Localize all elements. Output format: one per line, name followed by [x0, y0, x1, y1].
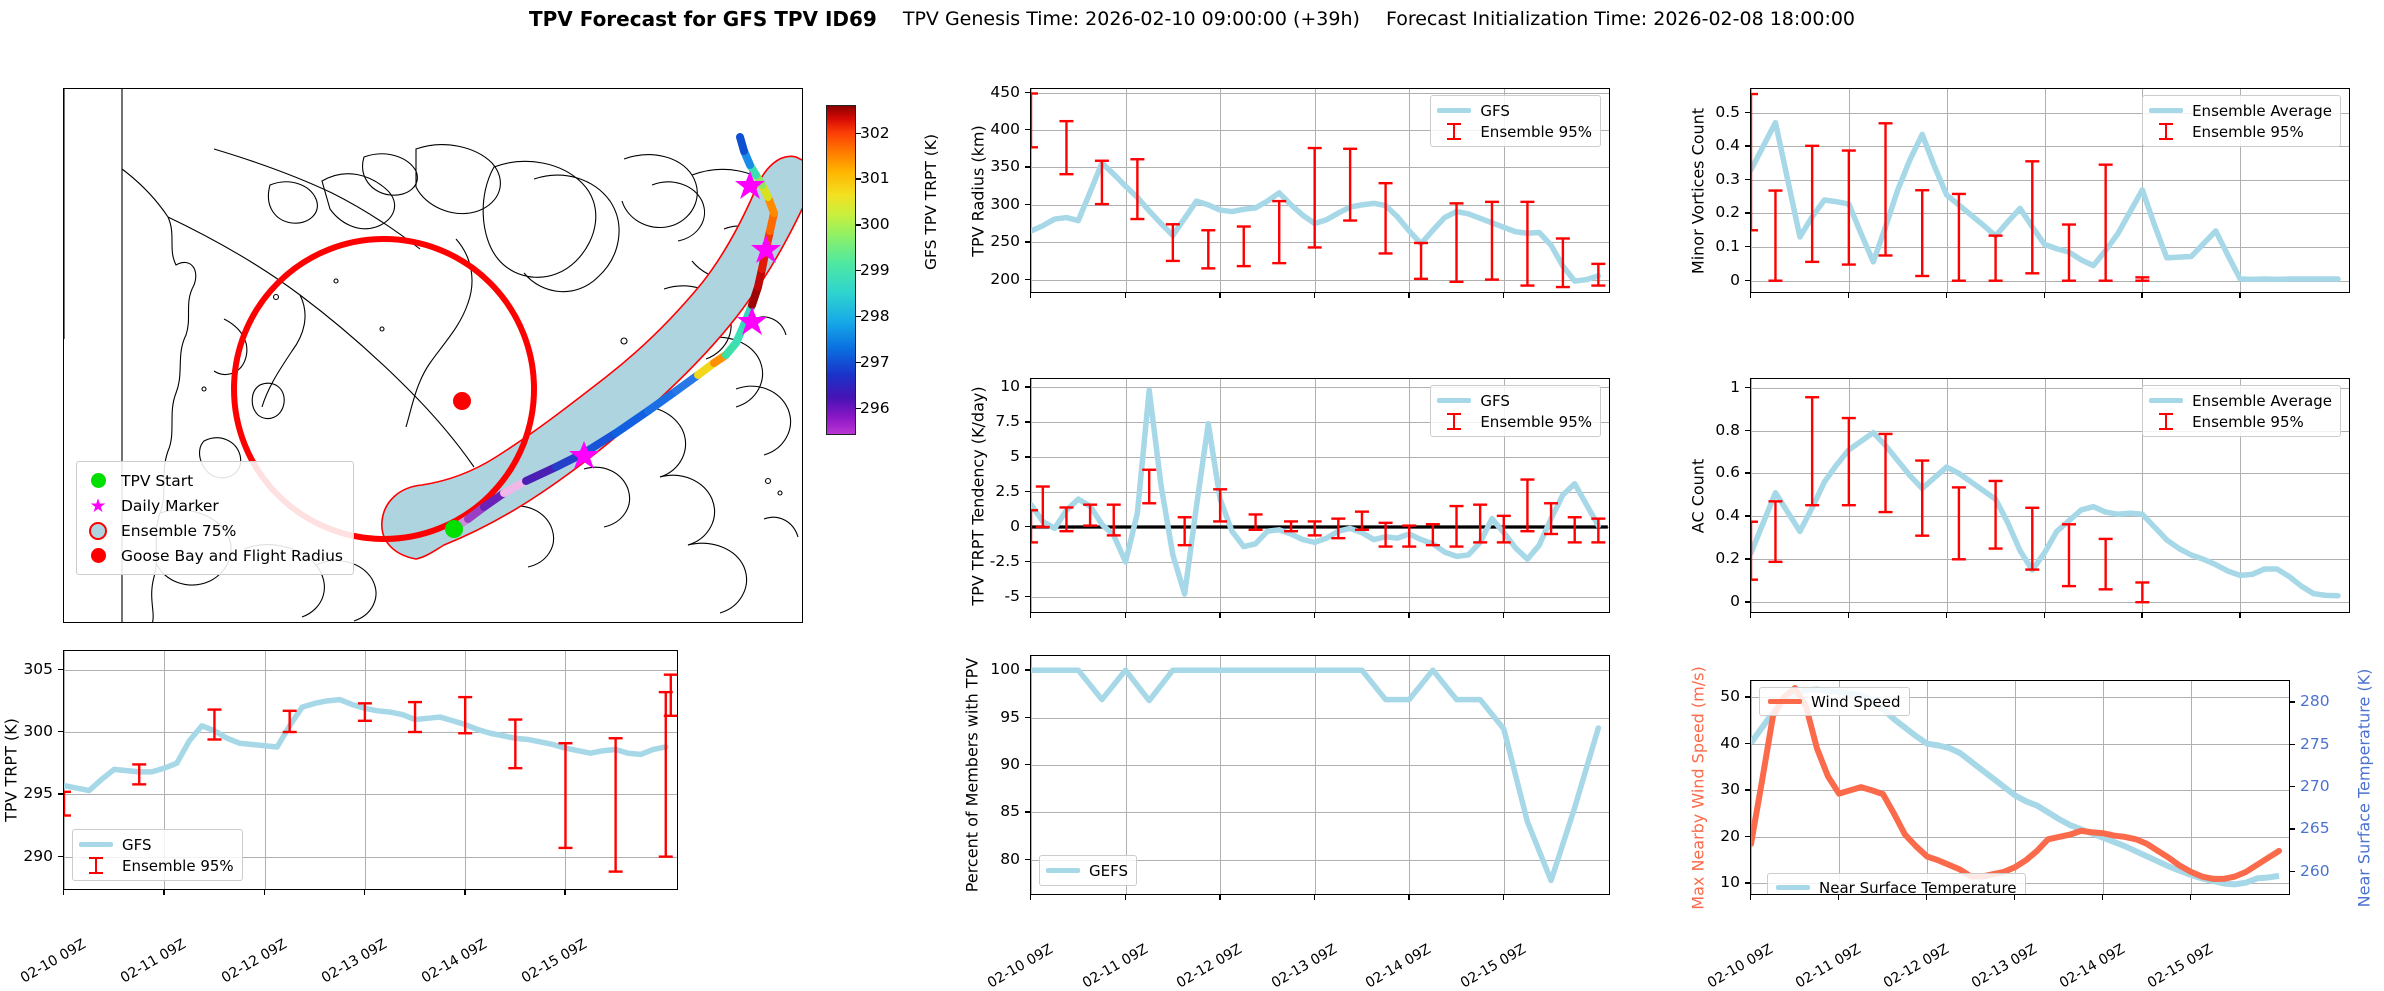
legend-item-ensemble-75: Ensemble 75%: [87, 518, 343, 543]
y-tick-mark: [1025, 166, 1030, 167]
legend-entry: Ensemble 95%: [2149, 411, 2332, 432]
y-tick-label: 20: [1720, 827, 1740, 845]
y-tick-label: 200: [990, 270, 1020, 288]
x-tick-mark: [1750, 895, 1751, 900]
plot-area-tpv-radius[interactable]: GFSEnsemble 95%: [1030, 88, 1610, 293]
error-bar: [1805, 146, 1819, 262]
y-tick-label: 0.4: [1715, 506, 1740, 524]
y-tick-mark: [58, 669, 63, 670]
x-tick-mark: [1750, 293, 1751, 298]
y-tick-mark: [1025, 92, 1030, 93]
y-tick-mark: [1745, 430, 1750, 431]
x-tick-label: 02-12 09Z: [1881, 941, 1952, 991]
legend-entry: Ensemble 95%: [1437, 411, 1592, 432]
legend-entry: Ensemble Average: [2149, 100, 2332, 121]
error-bar: [1520, 480, 1534, 532]
colorbar-tick-label: 298: [860, 307, 890, 325]
error-bar: [1989, 236, 2003, 281]
y-tick-label: 30: [1720, 780, 1740, 798]
y-tick-label: 1: [1730, 378, 1740, 396]
error-bar: [1768, 191, 1782, 281]
y-tick-label: 100: [990, 660, 1020, 678]
legend-entry: GFS: [79, 834, 234, 855]
plot-area-ac-count[interactable]: Ensemble AverageEnsemble 95%: [1750, 378, 2350, 613]
plot-area-tpv-trpt-tendency[interactable]: GFSEnsemble 95%: [1030, 378, 1610, 613]
x-tick-label: 02-14 09Z: [1363, 941, 1434, 991]
y-tick-mark: [1025, 279, 1030, 280]
legend-errorbar-icon: [79, 857, 113, 874]
red-circle-icon: [87, 548, 109, 563]
x-tick-label: 02-15 09Z: [519, 936, 590, 986]
x-tick-label: 02-13 09Z: [1969, 941, 2040, 991]
x-tick-label: 02-10 09Z: [1705, 941, 1776, 991]
temperature-line: [1751, 689, 2279, 884]
error-bar: [2099, 539, 2113, 589]
x-tick-mark: [1314, 613, 1315, 618]
x-tick-mark: [1125, 293, 1126, 298]
error-bar: [1485, 202, 1499, 280]
y-tick-mark: [1745, 472, 1750, 473]
error-bar: [1879, 434, 1893, 512]
y-tick-label: 0.6: [1715, 463, 1740, 481]
x-tick-mark: [1848, 293, 1849, 298]
legend-label: Ensemble 75%: [121, 522, 236, 540]
x-tick-mark: [1408, 613, 1409, 618]
legend-label: Wind Speed: [1811, 693, 1901, 711]
x-tick-mark: [1946, 613, 1947, 618]
y-axis-label-right: Near Surface Temperature (K): [2355, 668, 2374, 907]
y-tick-label-right: 275: [2300, 735, 2330, 753]
y-tick-mark: [1745, 515, 1750, 516]
tpv-start-marker: [445, 520, 463, 538]
y-tick-mark: [1745, 836, 1750, 837]
legend-percent-members: GEFS: [1039, 855, 1137, 886]
y-tick-mark: [1745, 789, 1750, 790]
x-tick-mark: [1926, 895, 1927, 900]
error-bar: [1379, 183, 1393, 253]
error-bar: [1915, 190, 1929, 276]
x-tick-mark: [2014, 895, 2015, 900]
y-tick-mark-right: [2290, 828, 2295, 829]
x-tick-mark: [2239, 613, 2240, 618]
x-tick-mark: [1219, 895, 1220, 900]
colorbar: 296297298299300301302 GFS TPV TRPT (K): [826, 105, 856, 435]
error-bar: [508, 720, 522, 769]
x-tick-mark: [2239, 293, 2240, 298]
legend-errorbar-icon: [1437, 413, 1471, 430]
x-tick-mark: [1314, 293, 1315, 298]
legend-label: Ensemble 95%: [1480, 123, 1592, 141]
y-tick-mark: [1745, 112, 1750, 113]
colorbar-label: GFS TPV TRPT (K): [922, 134, 940, 270]
colorbar-gradient: [826, 105, 856, 435]
y-tick-label: 0.5: [1715, 103, 1740, 121]
error-bar: [2135, 277, 2149, 280]
x-tick-mark: [1030, 293, 1031, 298]
y-axis-label: AC Count: [1689, 458, 1708, 532]
y-tick-mark: [1025, 717, 1030, 718]
error-bar: [1520, 202, 1534, 286]
goose-bay-marker: [453, 392, 471, 410]
error-bar: [2099, 165, 2113, 281]
y-axis-label: TPV TRPT (K): [2, 718, 21, 822]
y-tick-label: 10: [1000, 377, 1020, 395]
legend-label: Goose Bay and Flight Radius: [121, 547, 343, 565]
y-tick-mark: [58, 793, 63, 794]
colorbar-tick-label: 302: [860, 124, 890, 142]
y-tick-label: 0.1: [1715, 237, 1740, 255]
error-bar: [1842, 418, 1856, 505]
legend-line-icon: [2149, 398, 2183, 403]
y-tick-mark: [1745, 387, 1750, 388]
x-tick-mark: [2102, 895, 2103, 900]
x-tick-label: 02-11 09Z: [118, 936, 189, 986]
legend-label: GFS: [122, 836, 152, 854]
y-tick-label-right: 270: [2300, 777, 2330, 795]
x-tick-mark: [163, 890, 164, 895]
x-tick-mark: [1030, 895, 1031, 900]
legend-line-icon: [1437, 108, 1471, 113]
x-tick-mark: [2190, 895, 2191, 900]
y-tick-label: 0.2: [1715, 203, 1740, 221]
y-tick-mark: [1745, 558, 1750, 559]
x-tick-mark: [1219, 293, 1220, 298]
legend-label: Ensemble Average: [2192, 392, 2332, 410]
x-tick-label: 02-14 09Z: [2057, 941, 2128, 991]
legend-label: GFS: [1480, 392, 1510, 410]
error-bar: [609, 738, 623, 871]
x-tick-mark: [564, 890, 565, 895]
y-tick-label: 90: [1000, 755, 1020, 773]
error-bar: [2135, 582, 2149, 602]
y-tick-mark: [1025, 596, 1030, 597]
y-tick-mark: [1745, 145, 1750, 146]
y-tick-mark: [1745, 743, 1750, 744]
x-tick-label: 02-12 09Z: [1174, 941, 1245, 991]
y-axis-label: TPV TRPT Tendency (K/day): [969, 386, 988, 605]
ensemble-circle-icon: [87, 522, 109, 540]
y-tick-mark: [1025, 811, 1030, 812]
legend-line-icon: [1046, 868, 1080, 873]
legend-label: GFS: [1480, 102, 1510, 120]
legend-entry: GEFS: [1046, 860, 1128, 881]
y-tick-mark: [1025, 456, 1030, 457]
legend-entry: Ensemble Average: [2149, 390, 2332, 411]
legend-label: Ensemble 95%: [1480, 413, 1592, 431]
legend-item-tpv-start: TPV Start: [87, 468, 343, 493]
y-tick-mark: [1025, 859, 1030, 860]
x-tick-mark: [464, 890, 465, 895]
y-tick-label: 305: [23, 660, 53, 678]
x-tick-mark: [1408, 293, 1409, 298]
y-tick-mark-right: [2290, 701, 2295, 702]
error-bar: [1036, 487, 1050, 527]
y-tick-mark: [1025, 129, 1030, 130]
x-tick-label: 02-15 09Z: [2145, 941, 2216, 991]
error-bar: [1915, 461, 1929, 536]
x-tick-mark: [1314, 895, 1315, 900]
y-tick-label: 10: [1720, 873, 1740, 891]
legend-label: Near Surface Temperature: [1819, 879, 2017, 896]
tpv-track-map[interactable]: TPV Start ★ Daily Marker Ensemble 75% Go…: [63, 88, 803, 623]
legend-label: Ensemble 95%: [122, 857, 234, 875]
ensemble-envelope: [382, 156, 803, 559]
x-tick-mark: [1838, 895, 1839, 900]
y-tick-label: 400: [990, 120, 1020, 138]
error-bar: [1952, 487, 1966, 559]
legend-wind-temp: Near Surface TemperatureWind Speed: [1759, 687, 1775, 691]
y-tick-mark: [1025, 204, 1030, 205]
data-line-ac-count: [1751, 433, 2338, 596]
genesis-time-label: TPV Genesis Time: 2026-02-10 09:00:00 (+…: [903, 8, 1360, 30]
y-tick-mark: [1025, 669, 1030, 670]
x-tick-label: 02-11 09Z: [1793, 941, 1864, 991]
legend-entry: Ensemble 95%: [1437, 121, 1592, 142]
plot-area-tpv-trpt[interactable]: GFSEnsemble 95%: [63, 650, 678, 890]
y-tick-mark: [1745, 882, 1750, 883]
y-tick-mark: [1745, 179, 1750, 180]
y-tick-label: 7.5: [995, 412, 1020, 430]
y-tick-label: -2.5: [990, 552, 1020, 570]
y-tick-mark: [1025, 764, 1030, 765]
legend-line-icon: [1776, 885, 1810, 890]
y-tick-mark-right: [2290, 871, 2295, 872]
x-tick-mark: [1503, 895, 1504, 900]
y-tick-label: 80: [1000, 850, 1020, 868]
legend-line-icon: [2149, 108, 2183, 113]
x-tick-mark: [1503, 293, 1504, 298]
x-tick-label: 02-14 09Z: [419, 936, 490, 986]
plot-area-minor-vortices-count[interactable]: Ensemble AverageEnsemble 95%: [1750, 88, 2350, 293]
legend-entry: GFS: [1437, 100, 1592, 121]
legend-entry: Near Surface Temperature: [1767, 873, 2026, 895]
colorbar-tick-label: 300: [860, 215, 890, 233]
error-bar: [1989, 481, 2003, 549]
x-tick-label: 02-10 09Z: [985, 941, 1056, 991]
legend-entry: Wind Speed: [1768, 691, 1901, 712]
x-tick-mark: [1125, 613, 1126, 618]
x-tick-mark: [264, 890, 265, 895]
legend-item-goose-bay: Goose Bay and Flight Radius: [87, 543, 343, 568]
y-tick-label: 0: [1010, 517, 1020, 535]
y-tick-mark-right: [2290, 786, 2295, 787]
y-tick-label: 300: [23, 722, 53, 740]
error-bar: [2062, 524, 2076, 586]
y-tick-mark: [1025, 491, 1030, 492]
legend-minor-vortices-count: Ensemble AverageEnsemble 95%: [2142, 95, 2341, 147]
y-axis-label: Percent of Members with TPV: [963, 658, 982, 892]
legend-label: GEFS: [1089, 862, 1128, 880]
error-bar: [1237, 227, 1251, 267]
y-tick-label: 0.3: [1715, 170, 1740, 188]
error-bar: [1059, 121, 1073, 174]
y-tick-label: 450: [990, 83, 1020, 101]
y-tick-label: 0.2: [1715, 549, 1740, 567]
y-tick-mark: [1745, 246, 1750, 247]
y-tick-label: 290: [23, 847, 53, 865]
init-time-label: Forecast Initialization Time: 2026-02-08…: [1386, 8, 1855, 30]
x-tick-mark: [2044, 613, 2045, 618]
data-line-percent-members: [1031, 670, 1598, 880]
legend-errorbar-icon: [2149, 123, 2183, 140]
x-tick-mark: [63, 890, 64, 895]
x-tick-label: 02-15 09Z: [1458, 941, 1529, 991]
error-bar: [1142, 470, 1156, 504]
x-tick-mark: [1125, 895, 1126, 900]
error-bar: [1568, 517, 1582, 542]
x-tick-label: 02-11 09Z: [1079, 941, 1150, 991]
colorbar-tick-label: 301: [860, 169, 890, 187]
y-tick-label: 300: [990, 195, 1020, 213]
x-tick-mark: [1408, 895, 1409, 900]
legend-errorbar-icon: [1437, 123, 1471, 140]
legend-label: Daily Marker: [121, 497, 219, 515]
plot-area-wind-temp[interactable]: Near Surface TemperatureWind Speed: [1750, 680, 2290, 895]
legend-line-icon: [1768, 699, 1802, 704]
y-tick-label-right: 265: [2300, 819, 2330, 837]
y-axis-label: Max Nearby Wind Speed (m/s): [1689, 666, 1708, 909]
x-tick-mark: [2044, 293, 2045, 298]
x-tick-mark: [1848, 613, 1849, 618]
error-bar: [1201, 230, 1215, 268]
y-tick-label: -5: [1005, 587, 1020, 605]
x-tick-mark: [1750, 613, 1751, 618]
colorbar-tick-label: 296: [860, 399, 890, 417]
magenta-star-icon: ★: [87, 499, 109, 513]
y-tick-mark-right: [2290, 744, 2295, 745]
y-tick-mark: [1745, 212, 1750, 213]
legend-line-icon: [79, 842, 113, 847]
x-tick-label: 02-10 09Z: [18, 936, 89, 986]
legend-entry: Ensemble 95%: [79, 855, 234, 876]
legend-label: Ensemble Average: [2192, 102, 2332, 120]
x-tick-mark: [364, 890, 365, 895]
y-tick-label: 250: [990, 232, 1020, 250]
legend-entry: GFS: [1437, 390, 1592, 411]
y-tick-mark: [1025, 241, 1030, 242]
error-bar: [63, 792, 71, 816]
y-tick-mark: [58, 856, 63, 857]
y-tick-mark: [1745, 601, 1750, 602]
error-bar: [1308, 148, 1322, 247]
legend-ac-count: Ensemble AverageEnsemble 95%: [2142, 385, 2341, 437]
error-bar: [1030, 93, 1038, 147]
map-legend: TPV Start ★ Daily Marker Ensemble 75% Go…: [76, 461, 354, 575]
error-bar: [1842, 151, 1856, 265]
page-title-bar: TPV Forecast for GFS TPV ID69 TPV Genesi…: [0, 2, 2384, 36]
x-tick-label: 02-13 09Z: [1269, 941, 1340, 991]
x-tick-mark: [1219, 613, 1220, 618]
y-tick-label-right: 280: [2300, 692, 2330, 710]
y-axis-label: Minor Vortices Count: [1689, 107, 1708, 273]
y-tick-label: 2.5: [995, 482, 1020, 500]
y-tick-label: 5: [1010, 447, 1020, 465]
x-tick-mark: [1030, 613, 1031, 618]
colorbar-tick-label: 297: [860, 353, 890, 371]
y-tick-mark: [58, 731, 63, 732]
y-tick-mark: [1025, 526, 1030, 527]
y-tick-label: 85: [1000, 802, 1020, 820]
green-circle-icon: [87, 473, 109, 488]
plot-area-percent-members[interactable]: GEFS: [1030, 655, 1610, 895]
y-tick-mark: [1025, 421, 1030, 422]
y-tick-label-right: 260: [2300, 862, 2330, 880]
legend-entry: Ensemble 95%: [2149, 121, 2332, 142]
error-bar: [1805, 397, 1819, 505]
y-tick-label: 295: [23, 784, 53, 802]
error-bar: [558, 743, 572, 848]
x-tick-mark: [1946, 293, 1947, 298]
y-tick-label: 0.4: [1715, 136, 1740, 154]
error-bar: [1414, 243, 1428, 279]
y-tick-mark: [1745, 696, 1750, 697]
x-tick-mark: [2141, 293, 2142, 298]
legend-label: Ensemble 95%: [2192, 123, 2304, 141]
wind-speed-line: [1751, 688, 2279, 879]
error-bar: [1272, 201, 1286, 263]
page-title: TPV Forecast for GFS TPV ID69: [529, 7, 877, 31]
legend-tpv-trpt: GFSEnsemble 95%: [72, 829, 243, 881]
x-tick-mark: [2141, 613, 2142, 618]
y-tick-label: 40: [1720, 734, 1740, 752]
y-tick-mark: [1025, 386, 1030, 387]
y-tick-mark: [1025, 561, 1030, 562]
x-tick-label: 02-13 09Z: [319, 936, 390, 986]
y-tick-mark: [1745, 280, 1750, 281]
legend-errorbar-icon: [2149, 413, 2183, 430]
colorbar-tick-label: 299: [860, 261, 890, 279]
legend-label: TPV Start: [121, 472, 193, 490]
y-tick-label: 0.8: [1715, 421, 1740, 439]
y-tick-label: 50: [1720, 687, 1740, 705]
legend-line-icon: [1437, 398, 1471, 403]
x-tick-mark: [1503, 613, 1504, 618]
y-tick-label: 95: [1000, 708, 1020, 726]
y-tick-label: 350: [990, 157, 1020, 175]
y-axis-label: TPV Radius (km): [969, 125, 988, 257]
legend-tpv-trpt-tendency: GFSEnsemble 95%: [1430, 385, 1601, 437]
y-tick-label: 0: [1730, 592, 1740, 610]
x-tick-label: 02-12 09Z: [218, 936, 289, 986]
legend-tpv-radius: GFSEnsemble 95%: [1430, 95, 1601, 147]
y-tick-label: 0: [1730, 271, 1740, 289]
legend-label: Ensemble 95%: [2192, 413, 2304, 431]
legend-item-daily-marker: ★ Daily Marker: [87, 493, 343, 518]
